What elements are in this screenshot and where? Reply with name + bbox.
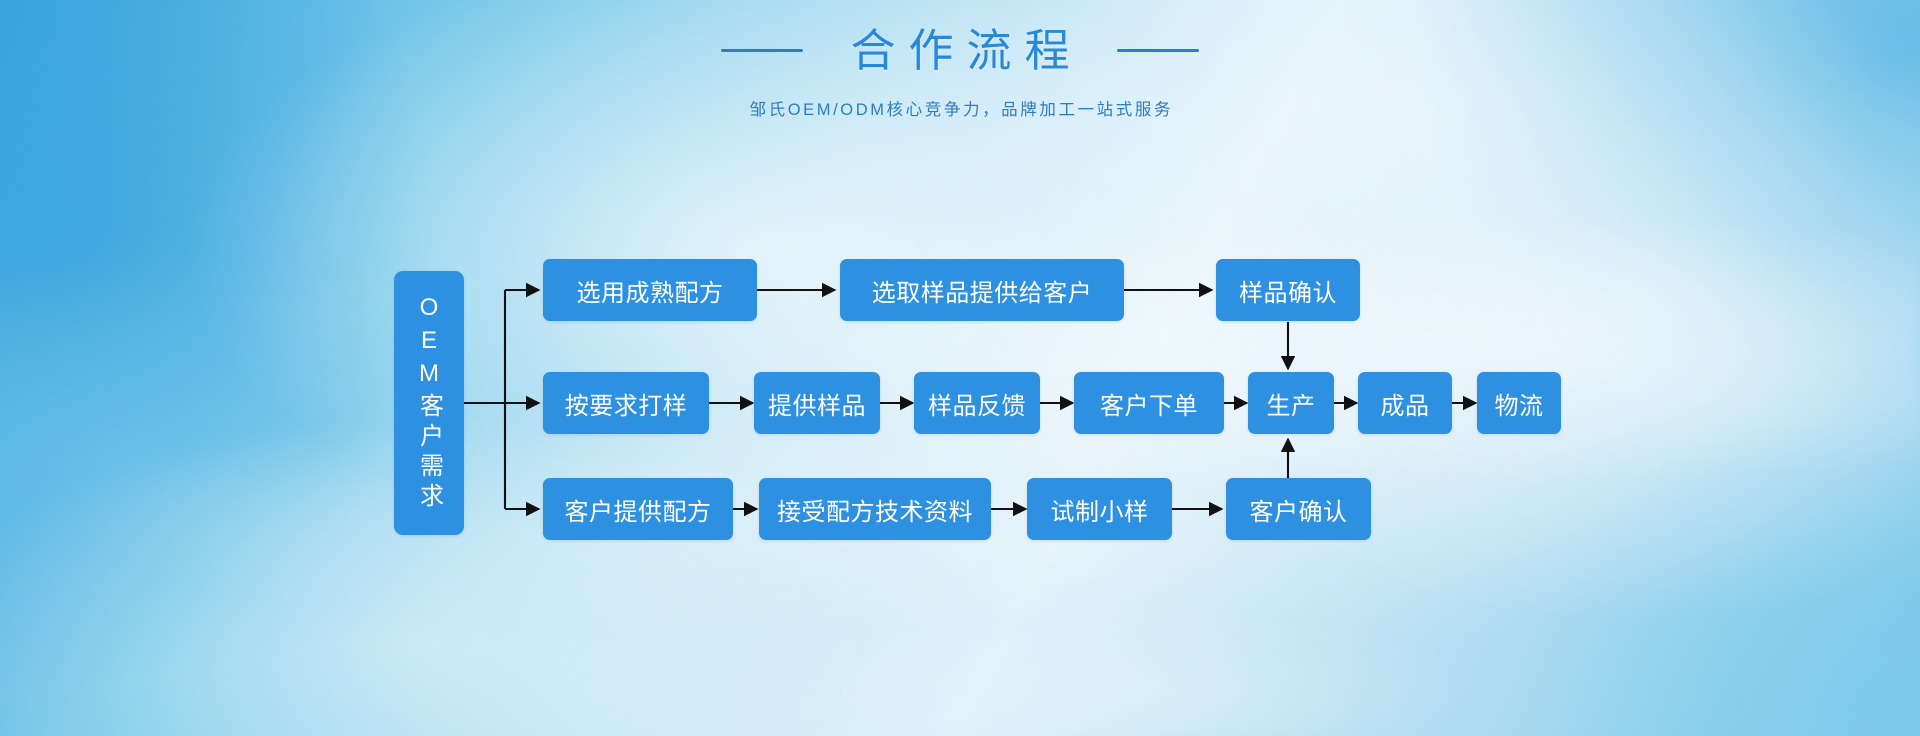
process-flow-diagram: OEM客户需求 选用成熟配方 选取样品提供给客户 样品确认 按要求打样 提供样品… bbox=[0, 0, 1920, 736]
flow-node-logistics[interactable]: 物流 bbox=[1477, 372, 1561, 434]
flow-node-provide-sample[interactable]: 提供样品 bbox=[754, 372, 880, 434]
flow-node-finished-goods[interactable]: 成品 bbox=[1358, 372, 1452, 434]
flow-node-oem-requirement[interactable]: OEM客户需求 bbox=[394, 271, 464, 535]
flow-node-provide-sample-to-customer[interactable]: 选取样品提供给客户 bbox=[840, 259, 1124, 321]
flow-node-customer-order[interactable]: 客户下单 bbox=[1074, 372, 1224, 434]
flow-node-select-mature-formula[interactable]: 选用成熟配方 bbox=[543, 259, 757, 321]
flow-node-sample-feedback[interactable]: 样品反馈 bbox=[914, 372, 1040, 434]
flow-node-sample-on-request[interactable]: 按要求打样 bbox=[543, 372, 709, 434]
flow-connectors bbox=[0, 0, 1920, 736]
flow-node-production[interactable]: 生产 bbox=[1248, 372, 1334, 434]
flow-node-customer-confirmation[interactable]: 客户确认 bbox=[1226, 478, 1371, 540]
flow-node-sample-confirmation[interactable]: 样品确认 bbox=[1216, 259, 1360, 321]
flow-node-customer-provides-formula[interactable]: 客户提供配方 bbox=[543, 478, 733, 540]
flow-node-receive-formula-docs[interactable]: 接受配方技术资料 bbox=[759, 478, 991, 540]
page-canvas: 合作流程 邹氏OEM/ODM核心竞争力，品牌加工一站式服务 bbox=[0, 0, 1920, 736]
flow-node-trial-sample[interactable]: 试制小样 bbox=[1027, 478, 1172, 540]
